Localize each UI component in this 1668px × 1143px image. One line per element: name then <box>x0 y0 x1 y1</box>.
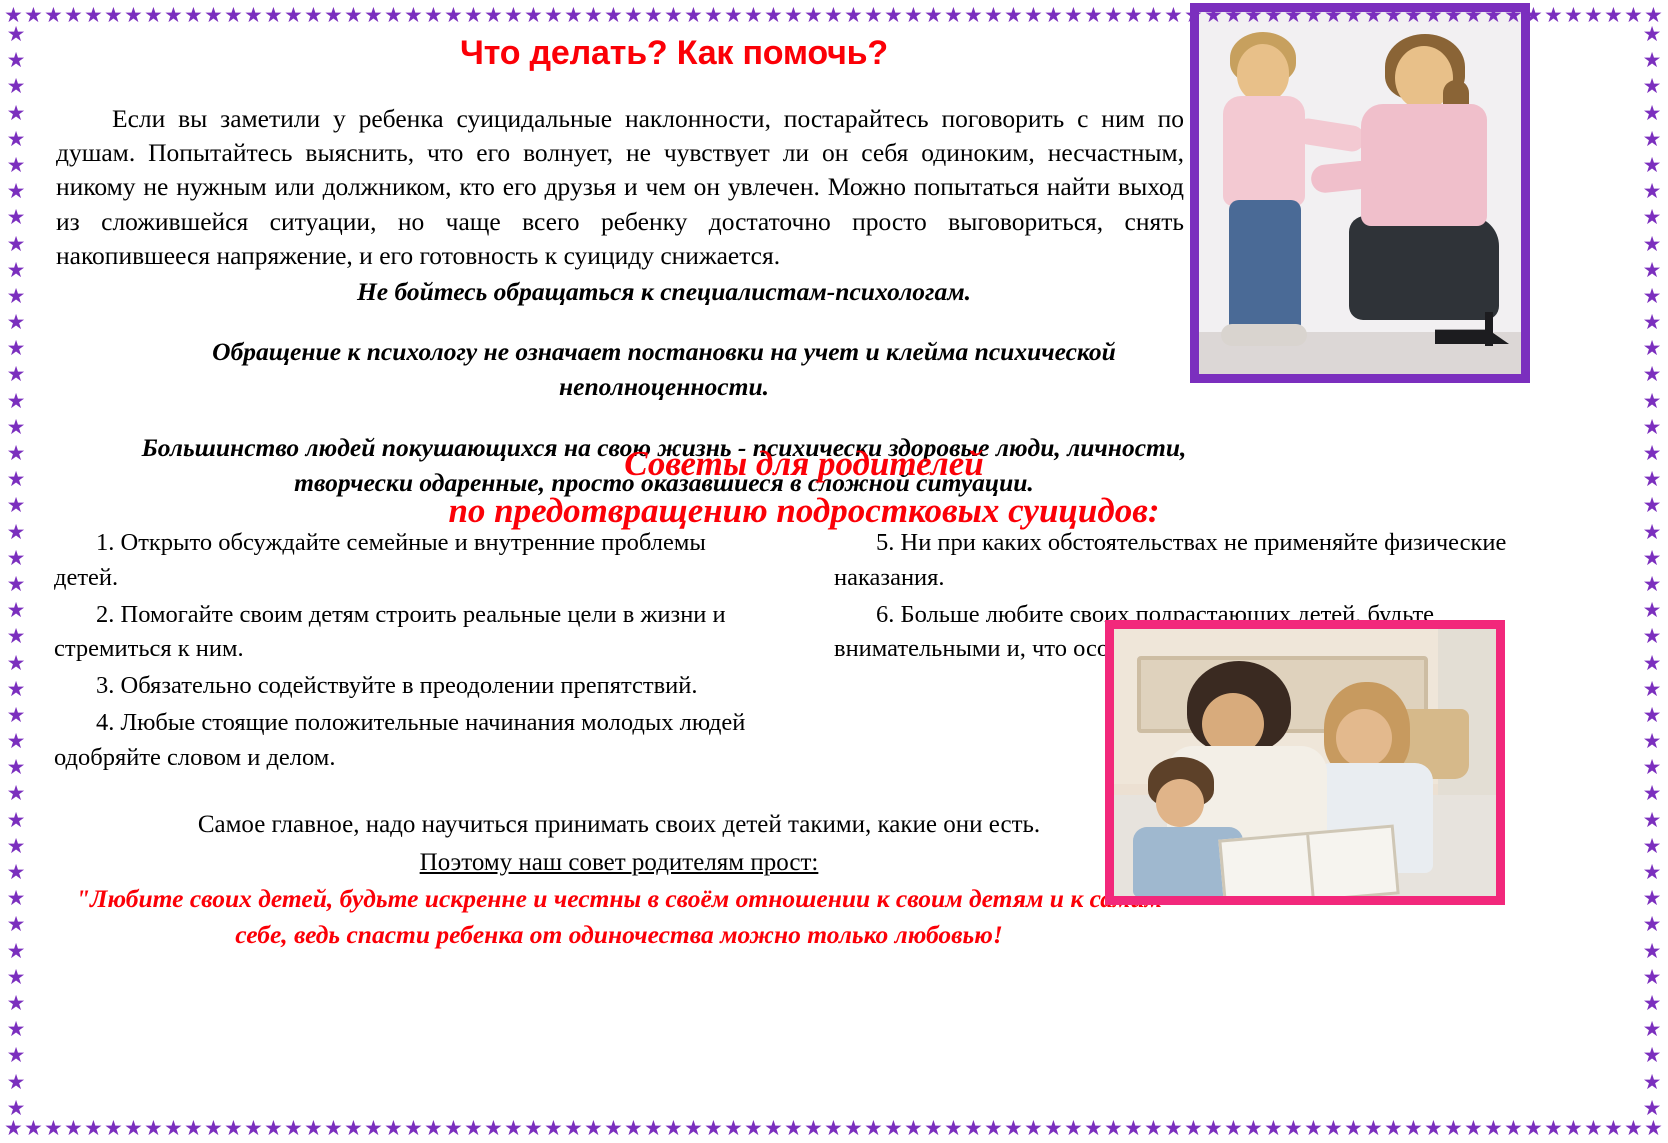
star-icon: ★ <box>1643 1019 1662 1040</box>
star-icon: ★ <box>7 783 26 804</box>
star-icon: ★ <box>7 443 26 464</box>
star-icon: ★ <box>384 1118 403 1139</box>
star-icon: ★ <box>784 5 803 26</box>
star-icon: ★ <box>964 5 983 26</box>
star-icon: ★ <box>424 1118 443 1139</box>
star-icon: ★ <box>1364 1118 1383 1139</box>
star-icon: ★ <box>1643 836 1662 857</box>
star-icon: ★ <box>744 1118 763 1139</box>
star-icon: ★ <box>824 5 843 26</box>
star-icon: ★ <box>7 548 26 569</box>
star-icon: ★ <box>924 1118 943 1139</box>
star-icon: ★ <box>7 76 26 97</box>
star-icon: ★ <box>664 5 683 26</box>
star-icon: ★ <box>444 5 463 26</box>
star-icon: ★ <box>4 5 23 26</box>
bold-statement-1: Не бойтесь обращаться к специалистам-пси… <box>134 274 1194 309</box>
tip-item: 3. Обязательно содействуйте в преодолени… <box>54 669 754 704</box>
star-icon: ★ <box>1464 1118 1483 1139</box>
star-icon: ★ <box>1643 286 1662 307</box>
star-icon: ★ <box>1643 443 1662 464</box>
star-icon: ★ <box>844 1118 863 1139</box>
star-icon: ★ <box>7 103 26 124</box>
star-icon: ★ <box>1244 1118 1263 1139</box>
star-icon: ★ <box>1424 1118 1443 1139</box>
star-icon: ★ <box>7 1072 26 1093</box>
star-icon: ★ <box>7 967 26 988</box>
star-icon: ★ <box>1584 1118 1603 1139</box>
star-icon: ★ <box>784 1118 803 1139</box>
star-icon: ★ <box>1643 757 1662 778</box>
star-icon: ★ <box>7 914 26 935</box>
star-icon: ★ <box>564 1118 583 1139</box>
star-icon: ★ <box>7 862 26 883</box>
star-icon: ★ <box>1184 1118 1203 1139</box>
star-icon: ★ <box>24 5 43 26</box>
star-icon: ★ <box>1164 1118 1183 1139</box>
star-icon: ★ <box>1144 1118 1163 1139</box>
star-icon: ★ <box>344 5 363 26</box>
star-icon: ★ <box>1643 522 1662 543</box>
star-border-right: ★★★★★★★★★★★★★★★★★★★★★★★★★★★★★★★★★★★★★★★★… <box>1639 24 1665 1119</box>
star-icon: ★ <box>604 5 623 26</box>
star-icon: ★ <box>1643 469 1662 490</box>
star-icon: ★ <box>504 1118 523 1139</box>
star-icon: ★ <box>164 1118 183 1139</box>
star-icon: ★ <box>1324 1118 1343 1139</box>
star-icon: ★ <box>244 5 263 26</box>
star-icon: ★ <box>1044 5 1063 26</box>
star-icon: ★ <box>7 207 26 228</box>
star-icon: ★ <box>204 5 223 26</box>
star-icon: ★ <box>664 1118 683 1139</box>
star-icon: ★ <box>384 5 403 26</box>
star-icon: ★ <box>7 417 26 438</box>
star-icon: ★ <box>584 5 603 26</box>
star-icon: ★ <box>804 5 823 26</box>
star-icon: ★ <box>344 1118 363 1139</box>
star-icon: ★ <box>7 495 26 516</box>
star-icon: ★ <box>7 522 26 543</box>
photo-mother-and-girl-image <box>1199 12 1521 374</box>
star-icon: ★ <box>524 5 543 26</box>
star-icon: ★ <box>104 5 123 26</box>
star-icon: ★ <box>1643 993 1662 1014</box>
star-icon: ★ <box>7 836 26 857</box>
star-icon: ★ <box>7 155 26 176</box>
star-icon: ★ <box>7 993 26 1014</box>
star-icon: ★ <box>7 1045 26 1066</box>
star-icon: ★ <box>1404 1118 1423 1139</box>
star-icon: ★ <box>504 5 523 26</box>
star-icon: ★ <box>1164 5 1183 26</box>
star-icon: ★ <box>364 5 383 26</box>
star-icon: ★ <box>1644 5 1663 26</box>
tips-column-left: 1. Открыто обсуждайте семейные и внутрен… <box>54 526 754 777</box>
star-icon: ★ <box>1284 1118 1303 1139</box>
star-icon: ★ <box>1643 24 1662 45</box>
star-icon: ★ <box>1643 312 1662 333</box>
star-icon: ★ <box>704 5 723 26</box>
star-icon: ★ <box>544 1118 563 1139</box>
star-icon: ★ <box>1643 1045 1662 1066</box>
star-icon: ★ <box>1564 5 1583 26</box>
section-title-line-1: Советы для родителей <box>334 441 1274 488</box>
star-icon: ★ <box>684 5 703 26</box>
star-icon: ★ <box>1344 1118 1363 1139</box>
star-icon: ★ <box>24 1118 43 1139</box>
tip-item: 5. Ни при каких обстоятельствах не приме… <box>834 526 1514 596</box>
star-icon: ★ <box>4 1118 23 1139</box>
star-icon: ★ <box>584 1118 603 1139</box>
star-icon: ★ <box>7 810 26 831</box>
star-icon: ★ <box>1643 574 1662 595</box>
star-icon: ★ <box>164 5 183 26</box>
star-icon: ★ <box>364 1118 383 1139</box>
star-icon: ★ <box>324 1118 343 1139</box>
star-icon: ★ <box>604 1118 623 1139</box>
star-icon: ★ <box>1624 5 1643 26</box>
star-icon: ★ <box>1643 862 1662 883</box>
star-icon: ★ <box>1124 5 1143 26</box>
star-icon: ★ <box>924 5 943 26</box>
star-icon: ★ <box>1643 338 1662 359</box>
star-icon: ★ <box>224 5 243 26</box>
photo-mother-reading-image <box>1114 629 1496 896</box>
star-icon: ★ <box>464 1118 483 1139</box>
star-icon: ★ <box>184 1118 203 1139</box>
star-icon: ★ <box>1544 5 1563 26</box>
star-icon: ★ <box>304 5 323 26</box>
star-icon: ★ <box>744 5 763 26</box>
star-icon: ★ <box>1304 1118 1323 1139</box>
star-icon: ★ <box>144 5 163 26</box>
star-icon: ★ <box>124 5 143 26</box>
star-icon: ★ <box>404 1118 423 1139</box>
star-icon: ★ <box>804 1118 823 1139</box>
star-icon: ★ <box>124 1118 143 1139</box>
star-icon: ★ <box>7 731 26 752</box>
star-icon: ★ <box>944 1118 963 1139</box>
star-icon: ★ <box>1643 103 1662 124</box>
star-icon: ★ <box>1224 1118 1243 1139</box>
star-icon: ★ <box>644 1118 663 1139</box>
star-icon: ★ <box>1064 5 1083 26</box>
star-icon: ★ <box>144 1118 163 1139</box>
star-icon: ★ <box>564 5 583 26</box>
star-icon: ★ <box>1444 1118 1463 1139</box>
star-icon: ★ <box>7 679 26 700</box>
star-icon: ★ <box>44 5 63 26</box>
star-icon: ★ <box>7 312 26 333</box>
star-icon: ★ <box>964 1118 983 1139</box>
star-icon: ★ <box>264 5 283 26</box>
star-icon: ★ <box>424 5 443 26</box>
star-icon: ★ <box>1104 1118 1123 1139</box>
star-icon: ★ <box>1643 705 1662 726</box>
star-icon: ★ <box>1643 76 1662 97</box>
star-icon: ★ <box>844 5 863 26</box>
star-icon: ★ <box>7 574 26 595</box>
star-icon: ★ <box>1643 391 1662 412</box>
star-icon: ★ <box>1504 1118 1523 1139</box>
star-icon: ★ <box>1643 653 1662 674</box>
star-icon: ★ <box>484 1118 503 1139</box>
star-icon: ★ <box>1643 914 1662 935</box>
star-icon: ★ <box>1643 548 1662 569</box>
star-icon: ★ <box>284 1118 303 1139</box>
star-icon: ★ <box>7 626 26 647</box>
star-icon: ★ <box>644 5 663 26</box>
star-icon: ★ <box>7 391 26 412</box>
star-icon: ★ <box>1044 1118 1063 1139</box>
star-border-bottom: ★★★★★★★★★★★★★★★★★★★★★★★★★★★★★★★★★★★★★★★★… <box>0 1115 1668 1141</box>
tip-item: 1. Открыто обсуждайте семейные и внутрен… <box>54 526 754 596</box>
star-icon: ★ <box>464 5 483 26</box>
star-icon: ★ <box>1584 5 1603 26</box>
star-icon: ★ <box>84 5 103 26</box>
star-icon: ★ <box>1204 1118 1223 1139</box>
star-icon: ★ <box>1643 967 1662 988</box>
star-icon: ★ <box>264 1118 283 1139</box>
star-icon: ★ <box>884 1118 903 1139</box>
star-icon: ★ <box>724 1118 743 1139</box>
star-icon: ★ <box>824 1118 843 1139</box>
star-icon: ★ <box>1024 5 1043 26</box>
star-icon: ★ <box>224 1118 243 1139</box>
star-icon: ★ <box>304 1118 323 1139</box>
star-icon: ★ <box>1643 155 1662 176</box>
star-icon: ★ <box>1384 1118 1403 1139</box>
star-icon: ★ <box>7 757 26 778</box>
star-icon: ★ <box>1604 5 1623 26</box>
star-icon: ★ <box>1624 1118 1643 1139</box>
star-icon: ★ <box>724 5 743 26</box>
star-icon: ★ <box>1643 600 1662 621</box>
star-icon: ★ <box>1643 783 1662 804</box>
star-icon: ★ <box>7 50 26 71</box>
star-icon: ★ <box>7 600 26 621</box>
poster-page: ★★★★★★★★★★★★★★★★★★★★★★★★★★★★★★★★★★★★★★★★… <box>0 0 1668 1143</box>
star-icon: ★ <box>1004 5 1023 26</box>
star-icon: ★ <box>1643 207 1662 228</box>
star-icon: ★ <box>84 1118 103 1139</box>
star-icon: ★ <box>1004 1118 1023 1139</box>
star-icon: ★ <box>104 1118 123 1139</box>
star-icon: ★ <box>1064 1118 1083 1139</box>
star-icon: ★ <box>7 181 26 202</box>
star-icon: ★ <box>764 5 783 26</box>
star-icon: ★ <box>544 5 563 26</box>
closing-block: Самое главное, надо научиться принимать … <box>74 806 1164 881</box>
star-icon: ★ <box>1124 1118 1143 1139</box>
photo-mother-and-girl <box>1190 3 1530 383</box>
star-icon: ★ <box>1643 679 1662 700</box>
star-icon: ★ <box>1264 1118 1283 1139</box>
star-icon: ★ <box>624 5 643 26</box>
star-icon: ★ <box>184 5 203 26</box>
star-icon: ★ <box>1643 1098 1662 1119</box>
tip-item: 2. Помогайте своим детям строить реальны… <box>54 598 754 668</box>
star-icon: ★ <box>7 24 26 45</box>
star-icon: ★ <box>7 888 26 909</box>
star-icon: ★ <box>7 338 26 359</box>
star-icon: ★ <box>524 1118 543 1139</box>
star-icon: ★ <box>1643 129 1662 150</box>
star-icon: ★ <box>984 1118 1003 1139</box>
star-icon: ★ <box>1643 260 1662 281</box>
star-icon: ★ <box>984 5 1003 26</box>
star-icon: ★ <box>1643 1072 1662 1093</box>
star-icon: ★ <box>1604 1118 1623 1139</box>
star-icon: ★ <box>7 234 26 255</box>
star-icon: ★ <box>7 469 26 490</box>
star-icon: ★ <box>1643 181 1662 202</box>
star-icon: ★ <box>864 5 883 26</box>
star-icon: ★ <box>204 1118 223 1139</box>
closing-line-1: Самое главное, надо научиться принимать … <box>74 806 1164 844</box>
star-icon: ★ <box>1564 1118 1583 1139</box>
star-icon: ★ <box>284 5 303 26</box>
star-icon: ★ <box>864 1118 883 1139</box>
closing-quote: "Любите своих детей, будьте искренне и ч… <box>74 881 1164 953</box>
star-icon: ★ <box>1643 731 1662 752</box>
star-icon: ★ <box>1643 495 1662 516</box>
star-icon: ★ <box>944 5 963 26</box>
star-icon: ★ <box>1144 5 1163 26</box>
star-icon: ★ <box>1643 50 1662 71</box>
star-icon: ★ <box>1643 888 1662 909</box>
closing-line-2: Поэтому наш совет родителям прост: <box>74 844 1164 882</box>
star-icon: ★ <box>244 1118 263 1139</box>
star-icon: ★ <box>7 1098 26 1119</box>
star-icon: ★ <box>1024 1118 1043 1139</box>
bold-statement-2: Обращение к психологу не означает постан… <box>134 334 1194 404</box>
star-icon: ★ <box>684 1118 703 1139</box>
star-icon: ★ <box>404 5 423 26</box>
photo-mother-reading-with-children <box>1105 620 1505 905</box>
star-icon: ★ <box>1084 5 1103 26</box>
star-icon: ★ <box>1484 1118 1503 1139</box>
star-icon: ★ <box>1644 1118 1663 1139</box>
star-icon: ★ <box>7 653 26 674</box>
section-title: Советы для родителей по предотвращению п… <box>334 441 1274 534</box>
star-icon: ★ <box>7 129 26 150</box>
star-icon: ★ <box>7 260 26 281</box>
star-icon: ★ <box>704 1118 723 1139</box>
star-icon: ★ <box>1643 417 1662 438</box>
star-icon: ★ <box>44 1118 63 1139</box>
star-icon: ★ <box>64 1118 83 1139</box>
star-icon: ★ <box>7 364 26 385</box>
star-icon: ★ <box>1643 810 1662 831</box>
star-icon: ★ <box>904 1118 923 1139</box>
star-icon: ★ <box>7 705 26 726</box>
star-icon: ★ <box>904 5 923 26</box>
star-border-left: ★★★★★★★★★★★★★★★★★★★★★★★★★★★★★★★★★★★★★★★★… <box>3 24 29 1119</box>
star-icon: ★ <box>1643 364 1662 385</box>
star-icon: ★ <box>624 1118 643 1139</box>
star-icon: ★ <box>64 5 83 26</box>
tip-item: 4. Любые стоящие положительные начинания… <box>54 706 754 776</box>
star-icon: ★ <box>7 1019 26 1040</box>
star-icon: ★ <box>1104 5 1123 26</box>
star-icon: ★ <box>1643 626 1662 647</box>
star-icon: ★ <box>1643 234 1662 255</box>
star-icon: ★ <box>324 5 343 26</box>
star-icon: ★ <box>1084 1118 1103 1139</box>
star-icon: ★ <box>7 286 26 307</box>
star-icon: ★ <box>884 5 903 26</box>
star-icon: ★ <box>7 941 26 962</box>
star-icon: ★ <box>484 5 503 26</box>
star-icon: ★ <box>1643 941 1662 962</box>
star-icon: ★ <box>1524 1118 1543 1139</box>
star-icon: ★ <box>1544 1118 1563 1139</box>
star-icon: ★ <box>764 1118 783 1139</box>
star-icon: ★ <box>444 1118 463 1139</box>
